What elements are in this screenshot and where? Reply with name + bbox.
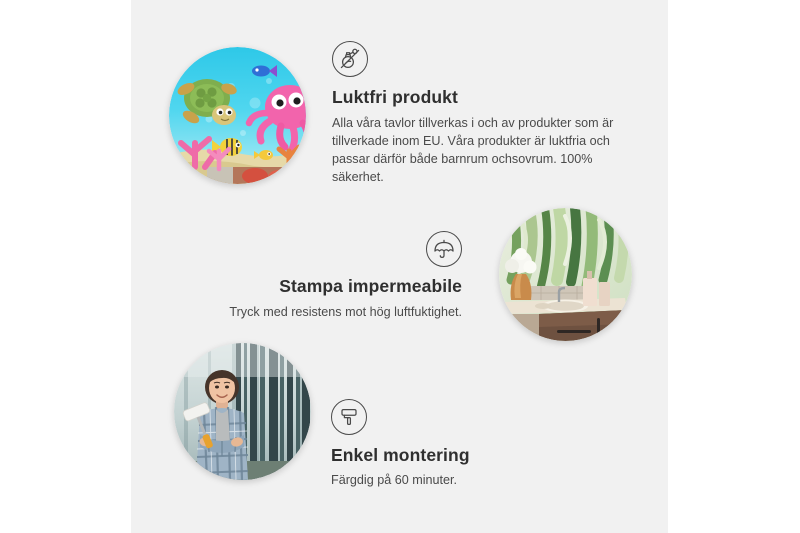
feature-assembly: Enkel montering Färgdig på 60 minuter.	[331, 399, 631, 490]
feature-waterproof-title: Stampa impermeabile	[150, 276, 462, 298]
feature-assembly-body: Färgdig på 60 minuter.	[331, 472, 631, 490]
paint-roller-icon	[331, 399, 367, 435]
feature-odourless-body: Alla våra tavlor tillverkas i och av pro…	[332, 115, 622, 187]
underwater-cartoon-photo	[169, 47, 306, 184]
bathroom-wallpaper-photo	[499, 208, 632, 341]
feature-waterproof-icon-wrap	[150, 231, 462, 267]
feature-odourless-title: Luktfri produkt	[332, 87, 632, 109]
no-smell-perfume-icon	[332, 41, 368, 77]
feature-waterproof-body: Tryck med resistens mot hög luftfuktighe…	[150, 304, 462, 322]
feature-waterproof: Stampa impermeabile Tryck med resistens …	[150, 231, 462, 322]
feature-odourless-icon-wrap	[332, 41, 632, 77]
umbrella-icon	[426, 231, 462, 267]
feature-odourless: Luktfri produkt Alla våra tavlor tillver…	[332, 41, 632, 186]
feature-assembly-title: Enkel montering	[331, 445, 631, 467]
decorator-forest-photo	[174, 343, 311, 480]
feature-assembly-icon-wrap	[331, 399, 631, 435]
promo-graphic: Luktfri produkt Alla våra tavlor tillver…	[0, 0, 800, 533]
